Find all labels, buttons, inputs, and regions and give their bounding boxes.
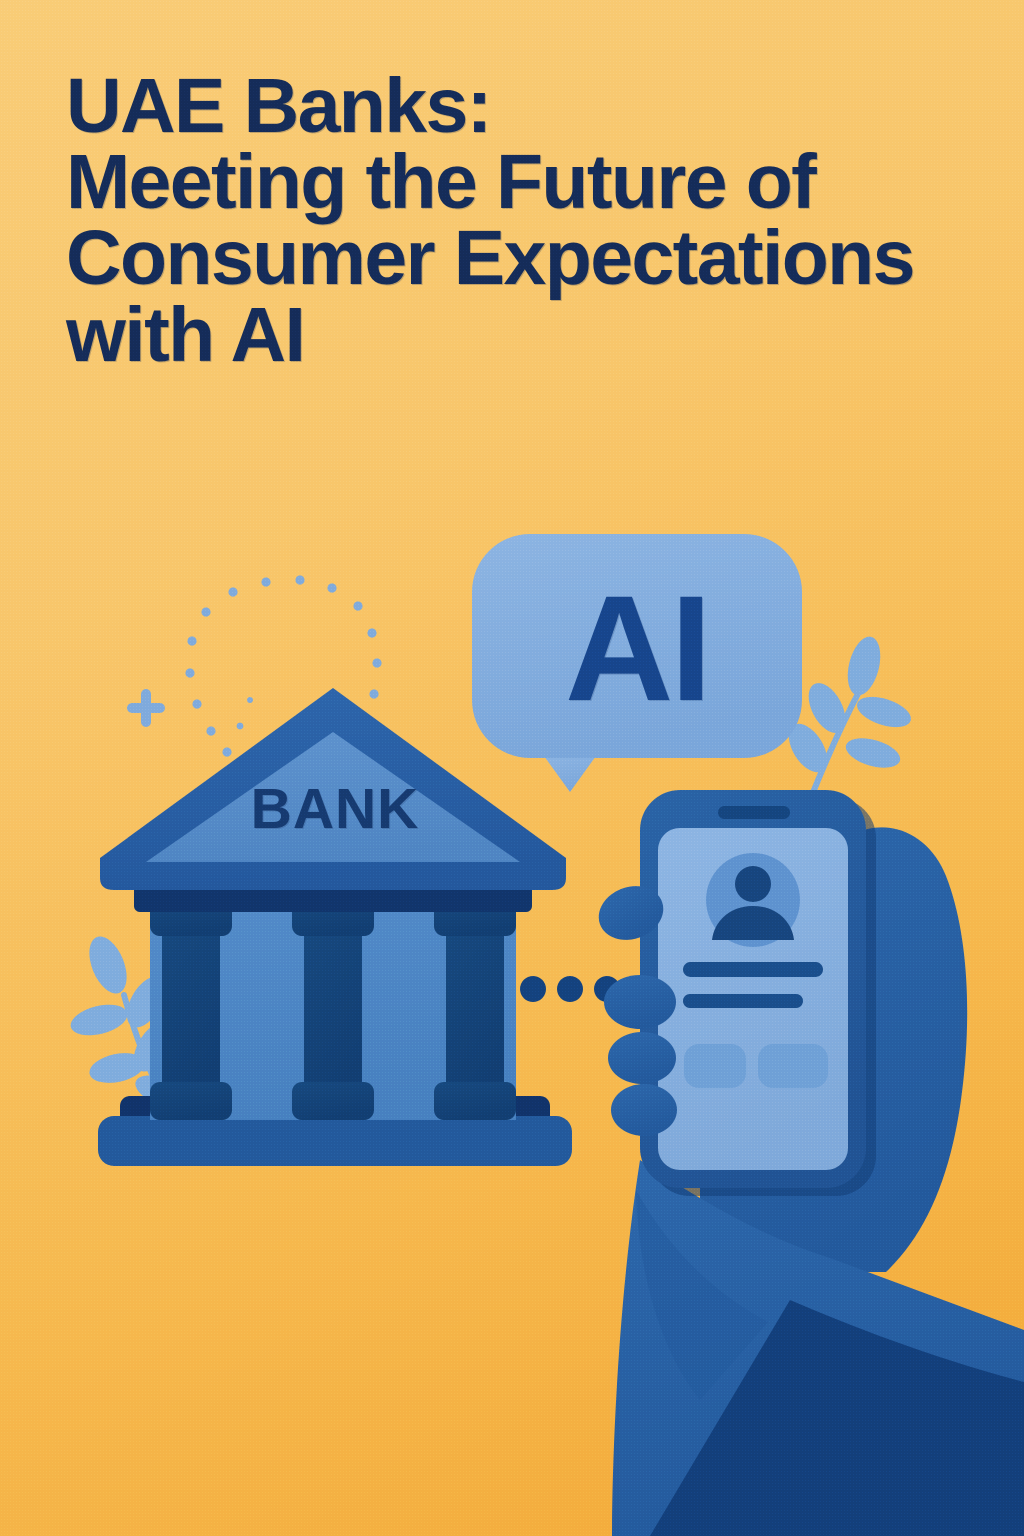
smartphone [640,790,876,1196]
poster-canvas: AI BANK UAE Banks: Meeting the Future of… [0,0,1024,1536]
plus-icon [127,689,165,727]
bank-sign-label: BANK [160,776,510,842]
title-line-4: with AI [66,297,1006,373]
title-line-2: Meeting the Future of [66,144,1006,220]
title-line-1: UAE Banks: [66,68,1006,144]
page-title: UAE Banks: Meeting the Future of Consume… [66,68,1006,373]
bank-building [98,688,572,1166]
avatar [706,853,800,947]
title-line-3: Consumer Expectations [66,220,1006,296]
ai-bubble-label: AI [472,548,802,748]
bank-columns [150,898,516,1120]
